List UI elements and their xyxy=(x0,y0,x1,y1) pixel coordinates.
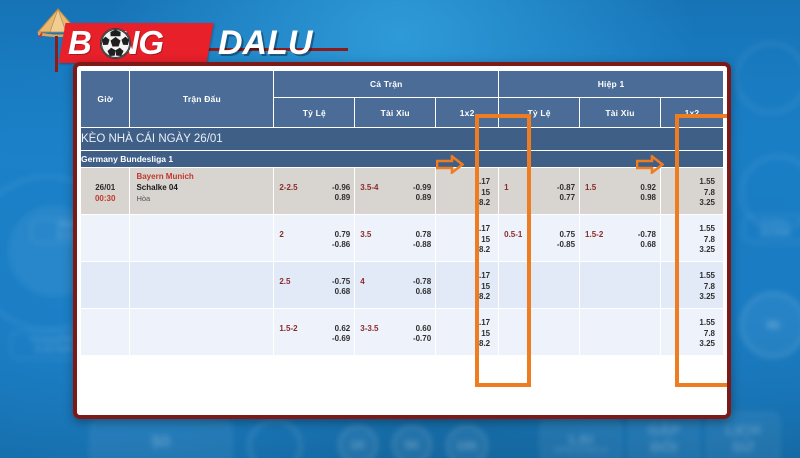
bg-chip-5k-label: 5K xyxy=(404,438,419,452)
half-handicap-home-odds: 0.75 xyxy=(559,230,575,240)
cell-full-overunder[interactable]: 3-3.50.60 .-0.70 xyxy=(355,309,436,356)
half-1x2-away: 3.25 xyxy=(661,198,715,208)
full-ou-under-odds: -0.70 xyxy=(413,334,431,344)
header-full-overunder: Tài Xỉu xyxy=(355,98,436,128)
bg-player-right: Cofien 43.51M xyxy=(742,215,800,243)
bg-chip-ring xyxy=(247,418,303,458)
half-1x2-draw: 7.8 xyxy=(661,282,715,292)
cell-match xyxy=(130,262,274,309)
right-arrow-icon-half xyxy=(636,155,664,174)
full-handicap-line: 2-2.5 xyxy=(279,183,297,193)
bg-viewer-count: 96 xyxy=(740,292,800,358)
bg-player-left-balance: $ 10.41M xyxy=(35,345,73,355)
header-group-first-half: Hiệp 1 xyxy=(499,71,724,98)
row-draw-label: Hòa xyxy=(136,194,273,204)
half-handicap-away-odds: 0.77 xyxy=(559,193,575,203)
cell-half-handicap[interactable]: . xyxy=(499,309,580,356)
full-handicap-line: 1.5-2 xyxy=(279,324,297,334)
half-1x2-draw: 7.8 xyxy=(661,188,715,198)
title-bar-row: KÈO NHÀ CÁI NGÀY 26/01 xyxy=(81,128,724,151)
bg-chat-ring xyxy=(735,42,800,114)
cell-half-1x2[interactable]: 1.55 7.8 3.25 xyxy=(660,215,723,262)
league-bar-row: Germany Bundesliga 1 xyxy=(81,151,724,168)
cell-half-overunder[interactable]: . xyxy=(580,262,661,309)
bg-chip-5k: 5K xyxy=(392,425,432,458)
cell-half-handicap[interactable]: 1-0.87 .0.77 xyxy=(499,168,580,215)
cell-full-handicap[interactable]: 2-2.5-0.96 .0.89 xyxy=(274,168,355,215)
half-handicap-line: 0.5-1 xyxy=(504,230,522,240)
full-ou-line: 3.5 xyxy=(360,230,371,240)
half-ou-line: 1.5-2 xyxy=(585,230,603,240)
half-1x2-away: 3.25 xyxy=(661,339,715,349)
half-1x2-home: 1.55 xyxy=(661,224,715,234)
table-row[interactable]: 20.79 .-0.86 3.50.78 .-0.88 1.17 15 8.2 xyxy=(81,215,724,262)
odds-table: Giờ Trận Đấu Cả Trận Hiệp 1 Tỷ Lệ Tài Xỉ… xyxy=(80,70,724,356)
header-time: Giờ xyxy=(81,71,130,128)
cell-half-1x2[interactable]: 1.55 7.8 3.25 xyxy=(660,168,723,215)
bg-history-top-label: LỊCH xyxy=(726,422,761,439)
cell-half-overunder[interactable]: . xyxy=(580,309,661,356)
full-ou-line: 3.5-4 xyxy=(360,183,378,193)
full-handicap-home-odds: 0.79 xyxy=(335,230,351,240)
row-home-team: Bayern Munich xyxy=(136,172,273,183)
cell-full-handicap[interactable]: 20.79 .-0.86 xyxy=(274,215,355,262)
cell-match: Bayern Munich Schalke 04 Hòa xyxy=(130,168,274,215)
half-ou-line: 1.5 xyxy=(585,183,596,193)
bg-history-label: SỬ xyxy=(732,439,754,456)
table-row[interactable]: 26/01 00:30 Bayern Munich Schalke 04 Hòa… xyxy=(81,168,724,215)
full-handicap-away-odds: -0.86 xyxy=(332,240,350,250)
half-1x2-home: 1.55 xyxy=(661,318,715,328)
bg-player-right-balance: 43.51M xyxy=(760,229,790,239)
half-ou-under-odds: 0.68 xyxy=(640,240,656,250)
table-row[interactable]: 1.5-20.62 .-0.69 3-3.50.60 .-0.70 1.17 1… xyxy=(81,309,724,356)
cell-full-handicap[interactable]: 1.5-20.62 .-0.69 xyxy=(274,309,355,356)
full-handicap-away-odds: -0.69 xyxy=(332,334,350,344)
row-date: 26/01 xyxy=(81,182,129,193)
cell-half-overunder[interactable]: 1.50.92 .0.98 xyxy=(580,168,661,215)
row-time: 00:30 xyxy=(81,193,129,204)
half-1x2-draw: 7.8 xyxy=(661,235,715,245)
header-full-1x2: 1x2 xyxy=(436,98,499,128)
full-1x2-draw: 15 xyxy=(436,329,490,339)
cell-full-1x2[interactable]: 1.17 15 8.2 xyxy=(436,309,499,356)
full-handicap-home-odds: -0.75 xyxy=(332,277,350,287)
half-handicap-home-odds: -0.87 xyxy=(557,183,575,193)
header-match: Trận Đấu xyxy=(130,71,274,128)
cell-full-1x2[interactable]: 1.17 15 8.2 xyxy=(436,262,499,309)
half-1x2-home: 1.55 xyxy=(661,271,715,281)
full-handicap-away-odds: 0.68 xyxy=(335,287,351,297)
full-1x2-home: 1.17 xyxy=(436,271,490,281)
bg-bet-amount-value: $0 xyxy=(152,432,171,452)
full-ou-under-odds: 0.89 xyxy=(416,193,432,203)
half-1x2-draw: 7.8 xyxy=(661,329,715,339)
table-row[interactable]: 2.5-0.75 .0.68 4-0.78 .0.68 1.17 15 8.2 xyxy=(81,262,724,309)
league-name: Germany Bundesliga 1 xyxy=(81,151,724,168)
row-away-team: Schalke 04 xyxy=(136,183,273,194)
full-1x2-away: 8.2 xyxy=(436,198,490,208)
bg-chip-1k-label: 1K xyxy=(350,438,365,452)
site-logo: BONG DALU xyxy=(28,8,328,70)
header-full-handicap: Tỷ Lệ xyxy=(274,98,355,128)
bg-repeat-label: LẠI xyxy=(569,431,593,448)
full-ou-under-odds: 0.68 xyxy=(416,287,432,297)
bg-viewer-count-value: 96 xyxy=(766,318,779,332)
full-1x2-away: 8.2 xyxy=(436,245,490,255)
half-1x2-home: 1.55 xyxy=(661,177,715,187)
bg-chip-1k: 1K xyxy=(338,425,378,458)
cell-match xyxy=(130,309,274,356)
cell-half-overunder[interactable]: 1.5-2-0.78 .0.68 xyxy=(580,215,661,262)
soccer-ball-icon xyxy=(100,28,131,59)
full-1x2-draw: 15 xyxy=(436,235,490,245)
table-header-group-row: Giờ Trận Đấu Cả Trận Hiệp 1 xyxy=(81,71,724,98)
cell-match xyxy=(130,215,274,262)
cell-time: 26/01 00:30 xyxy=(81,168,130,215)
logo-bong-text: BONG xyxy=(68,25,213,61)
odds-date-title: KÈO NHÀ CÁI NGÀY 26/01 xyxy=(81,128,724,151)
full-ou-over-odds: 0.78 xyxy=(416,230,432,240)
full-ou-line: 4 xyxy=(360,277,364,287)
full-ou-over-odds: -0.78 xyxy=(413,277,431,287)
half-1x2-away: 3.25 xyxy=(661,292,715,302)
bg-chip-10k-label: 10K xyxy=(456,439,478,453)
header-half-handicap: Tỷ Lệ xyxy=(499,98,580,128)
bg-double-top-label: GẤP xyxy=(648,422,681,439)
full-handicap-home-odds: -0.96 xyxy=(332,183,350,193)
half-ou-under-odds: 0.98 xyxy=(640,193,656,203)
cell-time xyxy=(81,309,130,356)
odds-screenshot-panel: Giờ Trận Đấu Cả Trận Hiệp 1 Tỷ Lệ Tài Xỉ… xyxy=(73,62,731,419)
full-handicap-line: 2 xyxy=(279,230,283,240)
full-1x2-home: 1.17 xyxy=(436,177,490,187)
half-handicap-line: 1 xyxy=(504,183,508,193)
cell-full-overunder[interactable]: 4-0.78 .0.68 xyxy=(355,262,436,309)
header-group-full-match: Cả Trận xyxy=(274,71,499,98)
full-1x2-away: 8.2 xyxy=(436,292,490,302)
logo-pole xyxy=(55,36,58,72)
cell-half-1x2[interactable]: 1.55 7.8 3.25 xyxy=(660,262,723,309)
bg-double-label: ĐÔI xyxy=(651,439,678,456)
logo-dalu-text: DALU xyxy=(218,24,312,62)
bg-repeat-sublabel: GIỮ ĐỂ TỰ CƯỢC LẠI xyxy=(555,448,608,454)
cell-full-handicap[interactable]: 2.5-0.75 .0.68 xyxy=(274,262,355,309)
cell-full-1x2[interactable]: 1.17 15 8.2 xyxy=(436,215,499,262)
bg-repeat-button: LẠI GIỮ ĐỂ TỰ CƯỢC LẠI xyxy=(540,418,622,458)
header-half-overunder: Tài Xỉu xyxy=(580,98,661,128)
full-ou-over-odds: 0.60 xyxy=(416,324,432,334)
right-arrow-icon-full xyxy=(436,155,464,174)
full-ou-over-odds: -0.99 xyxy=(413,183,431,193)
cell-half-handicap[interactable]: . xyxy=(499,262,580,309)
half-ou-over-odds: 0.92 xyxy=(640,183,656,193)
bg-bet-amount: $0 xyxy=(90,418,232,458)
full-1x2-draw: 15 xyxy=(436,282,490,292)
header-half-1x2: 1x2 xyxy=(660,98,723,128)
full-ou-line: 3-3.5 xyxy=(360,324,378,334)
full-handicap-home-odds: 0.62 xyxy=(335,324,351,334)
half-ou-over-odds: -0.78 xyxy=(638,230,656,240)
cell-full-overunder[interactable]: 3.50.78 .-0.88 xyxy=(355,215,436,262)
full-1x2-draw: 15 xyxy=(436,188,490,198)
cell-full-overunder[interactable]: 3.5-4-0.99 .0.89 xyxy=(355,168,436,215)
full-1x2-home: 1.17 xyxy=(436,318,490,328)
full-1x2-home: 1.17 xyxy=(436,224,490,234)
bg-chip-10k: 10K xyxy=(446,425,488,458)
cell-full-1x2[interactable]: 1.17 15 8.2 xyxy=(436,168,499,215)
cell-half-handicap[interactable]: 0.5-10.75 .-0.85 xyxy=(499,215,580,262)
half-1x2-away: 3.25 xyxy=(661,245,715,255)
half-handicap-away-odds: -0.85 xyxy=(557,240,575,250)
cell-time xyxy=(81,215,130,262)
full-handicap-away-odds: 0.89 xyxy=(335,193,351,203)
full-handicap-line: 2.5 xyxy=(279,277,290,287)
full-ou-under-odds: -0.88 xyxy=(413,240,431,250)
odds-table-container: Giờ Trận Đấu Cả Trận Hiệp 1 Tỷ Lệ Tài Xỉ… xyxy=(77,66,727,415)
full-1x2-away: 8.2 xyxy=(436,339,490,349)
cell-half-1x2[interactable]: 1.55 7.8 3.25 xyxy=(660,309,723,356)
cell-time xyxy=(81,262,130,309)
logo-letter-b: B xyxy=(68,24,91,61)
